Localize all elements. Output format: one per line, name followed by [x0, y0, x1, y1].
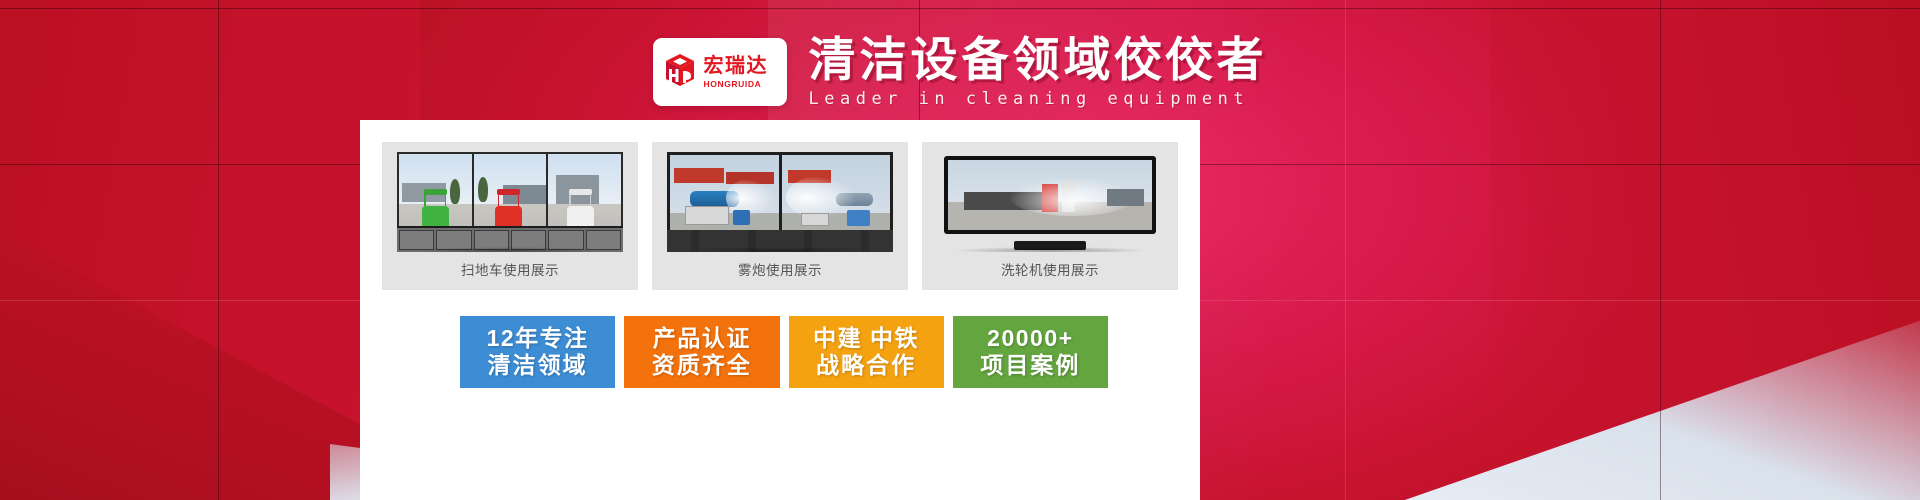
display-shadow [685, 247, 875, 252]
fog-cannon-display-image [667, 152, 893, 252]
product-card-caption: 洗轮机使用展示 [1001, 259, 1099, 279]
feature-badge-partners[interactable]: 中建 中铁 战略合作 [789, 316, 944, 388]
logo-english-name: HONGRUIDA [704, 79, 769, 89]
wheel-washer-monitor-image [937, 152, 1163, 252]
product-card-caption: 扫地车使用展示 [461, 259, 559, 279]
badge-line-2: 清洁领域 [488, 352, 588, 379]
badge-line-1: 产品认证 [653, 325, 751, 352]
product-card-caption: 雾炮使用展示 [738, 259, 822, 279]
cube-logo-icon [662, 52, 698, 92]
display-shadow [415, 247, 605, 252]
feature-badge-projects[interactable]: 20000+ 项目案例 [953, 316, 1108, 388]
headline-subtitle: Leader in cleaning equipment [809, 89, 1268, 109]
monitor-screen [948, 160, 1152, 230]
feature-badge-list: 12年专注 清洁领域 产品认证 资质齐全 中建 中铁 战略合作 20000+ 项… [460, 316, 1108, 388]
badge-line-1: 中建 中铁 [813, 325, 919, 352]
badge-line-2: 项目案例 [980, 352, 1080, 379]
display-shadow [955, 247, 1145, 252]
grid-line-horizontal [0, 8, 1920, 9]
badge-line-2: 资质齐全 [652, 352, 752, 379]
sweeper-video-wall-image [397, 152, 623, 252]
badge-line-1: 12年专注 [487, 325, 589, 352]
product-card[interactable]: 扫地车使用展示 [382, 142, 638, 290]
product-card[interactable]: 洗轮机使用展示 [922, 142, 1178, 290]
banner-header: 宏瑞达 HONGRUIDA 清洁设备领域佼佼者 Leader in cleani… [0, 36, 1920, 109]
product-card-list: 扫地车使用展示 [382, 142, 1178, 290]
feature-badge-experience[interactable]: 12年专注 清洁领域 [460, 316, 615, 388]
badge-line-2: 战略合作 [816, 352, 916, 379]
badge-line-1: 20000+ [987, 325, 1073, 352]
product-card[interactable]: 雾炮使用展示 [652, 142, 908, 290]
feature-badge-certification[interactable]: 产品认证 资质齐全 [624, 316, 779, 388]
monitor-bezel [944, 156, 1156, 234]
logo-chinese-name: 宏瑞达 [704, 56, 769, 77]
brand-logo[interactable]: 宏瑞达 HONGRUIDA [653, 38, 787, 106]
headline-group: 清洁设备领域佼佼者 Leader in cleaning equipment [809, 36, 1268, 109]
content-panel: 扫地车使用展示 [360, 120, 1200, 500]
headline-title: 清洁设备领域佼佼者 [809, 36, 1268, 85]
